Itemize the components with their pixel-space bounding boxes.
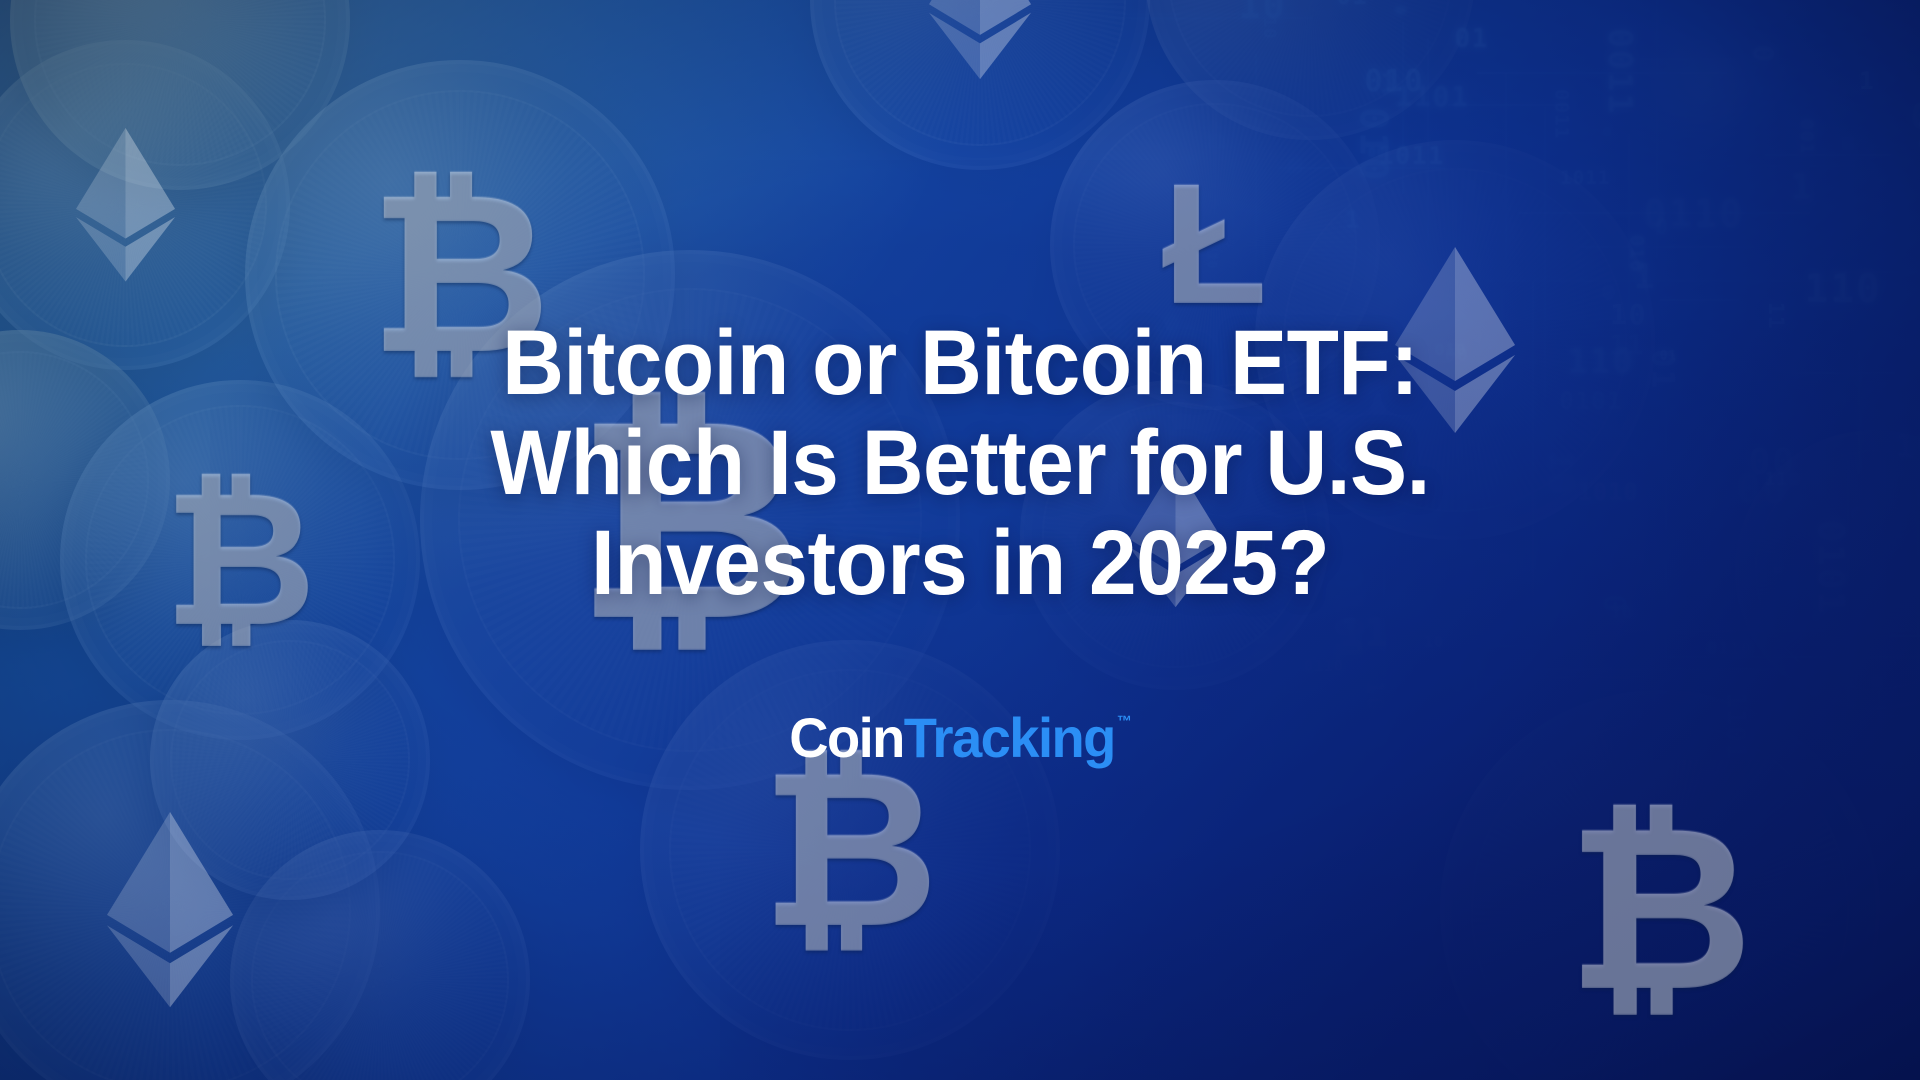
page-title-line-1: Bitcoin or Bitcoin ETF: [490,314,1430,414]
page-title: Bitcoin or Bitcoin ETF: Which Is Better … [490,314,1430,613]
trademark-icon: ™ [1116,714,1131,729]
banner-content: Bitcoin or Bitcoin ETF: Which Is Better … [0,0,1920,1080]
cointracking-logo[interactable]: Coin Tracking ™ [789,710,1131,766]
page-title-line-2: Which Is Better for U.S. [490,414,1430,514]
logo-text-tracking: Tracking [903,710,1114,766]
page-title-line-3: Investors in 2025? [490,514,1430,614]
article-hero-banner: ₿Ł₿₿₿₿ 100110011011000101101011001011100… [0,0,1920,1080]
logo-text-coin: Coin [789,710,903,766]
